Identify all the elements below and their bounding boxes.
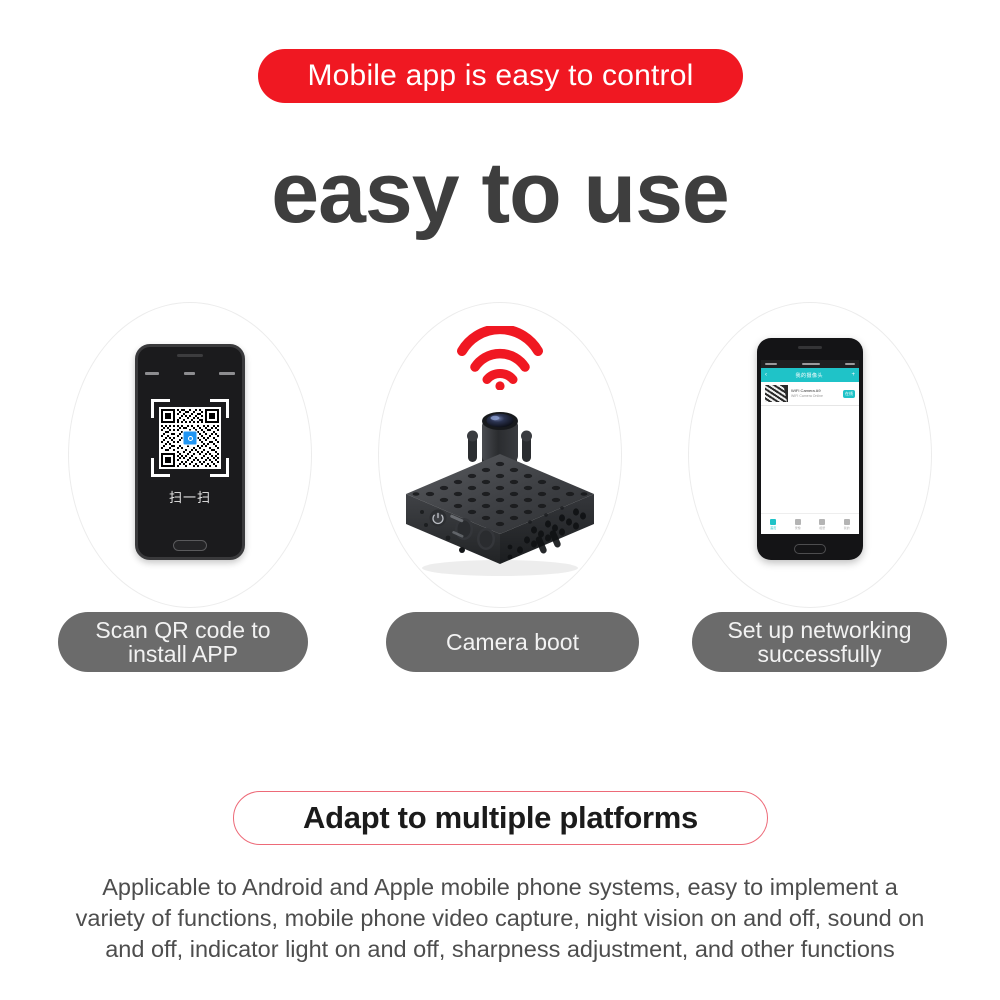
video-icon: [795, 519, 801, 525]
caption-scan-qr: Scan QR code to install APP: [58, 612, 308, 672]
status-signal-icon: [765, 363, 777, 366]
wifi-icon: [454, 326, 546, 390]
tab-label: 相册: [819, 526, 825, 530]
caption-network-setup: Set up networking successfully: [692, 612, 947, 672]
tab-profile[interactable]: 我的: [835, 514, 860, 534]
panel-camera-boot: [350, 296, 650, 616]
tab-home[interactable]: 首页: [761, 514, 786, 534]
phone-earpiece: [798, 346, 822, 349]
qr-center-logo-icon: [183, 431, 198, 446]
device-status: WIFI Camera Online: [791, 394, 840, 399]
android-status-bar: [761, 360, 859, 368]
tab-label: 我的: [844, 526, 850, 530]
qr-scan-frame: [151, 399, 229, 477]
phone-home-button[interactable]: [794, 544, 826, 554]
status-clock-icon: [184, 372, 195, 375]
album-icon: [819, 519, 825, 525]
page-title: easy to use: [0, 150, 1000, 236]
phone-screen: ‹ 我的摄像头 + WIFI Camera A9 WIFI Camera Onl…: [761, 360, 859, 534]
adapt-banner: Adapt to multiple platforms: [233, 791, 768, 845]
phone-earpiece: [177, 354, 203, 357]
caption-camera-boot: Camera boot: [386, 612, 639, 672]
caption-row: Scan QR code to install APP Camera boot …: [0, 612, 1000, 682]
status-carrier-icon: [145, 372, 159, 375]
app-title: 我的摄像头: [795, 372, 823, 379]
status-battery-icon: [845, 363, 855, 366]
camera-illustration: [390, 392, 610, 577]
phone-app-device-list: ‹ 我的摄像头 + WIFI Camera A9 WIFI Camera Onl…: [757, 338, 863, 560]
device-list-item[interactable]: WIFI Camera A9 WIFI Camera Online 在线: [761, 382, 859, 406]
top-banner-text: Mobile app is easy to control: [307, 59, 693, 93]
home-icon: [770, 519, 776, 525]
tab-video[interactable]: 录像: [786, 514, 811, 534]
app-tab-bar: 首页 录像 相册 我的: [761, 513, 859, 534]
phone-status-bar: [138, 369, 242, 378]
tab-album[interactable]: 相册: [810, 514, 835, 534]
plus-icon[interactable]: +: [851, 372, 855, 378]
top-banner: Mobile app is easy to control: [258, 49, 743, 103]
status-battery-icon: [219, 372, 235, 375]
tab-label: 录像: [795, 526, 801, 530]
panel-scan-qr: 扫一扫: [40, 296, 340, 616]
app-title-bar: ‹ 我的摄像头 +: [761, 368, 859, 382]
qr-code: [159, 407, 221, 469]
phone-qr-scan: 扫一扫: [135, 344, 245, 560]
adapt-banner-text: Adapt to multiple platforms: [303, 800, 698, 836]
panel-network-setup: ‹ 我的摄像头 + WIFI Camera A9 WIFI Camera Onl…: [660, 296, 960, 616]
device-info: WIFI Camera A9 WIFI Camera Online: [791, 388, 840, 398]
mini-cube-camera: [390, 392, 610, 577]
scan-label: 扫一扫: [138, 487, 242, 506]
tab-label: 首页: [770, 526, 776, 530]
back-icon[interactable]: ‹: [765, 372, 767, 378]
device-online-badge: 在线: [843, 390, 855, 398]
device-thumbnail: [765, 385, 788, 402]
illustration-panels: 扫一扫: [0, 296, 1000, 616]
status-time-icon: [802, 363, 820, 366]
phone-home-button[interactable]: [173, 540, 207, 551]
user-icon: [844, 519, 850, 525]
footer-description: Applicable to Android and Apple mobile p…: [70, 872, 930, 965]
